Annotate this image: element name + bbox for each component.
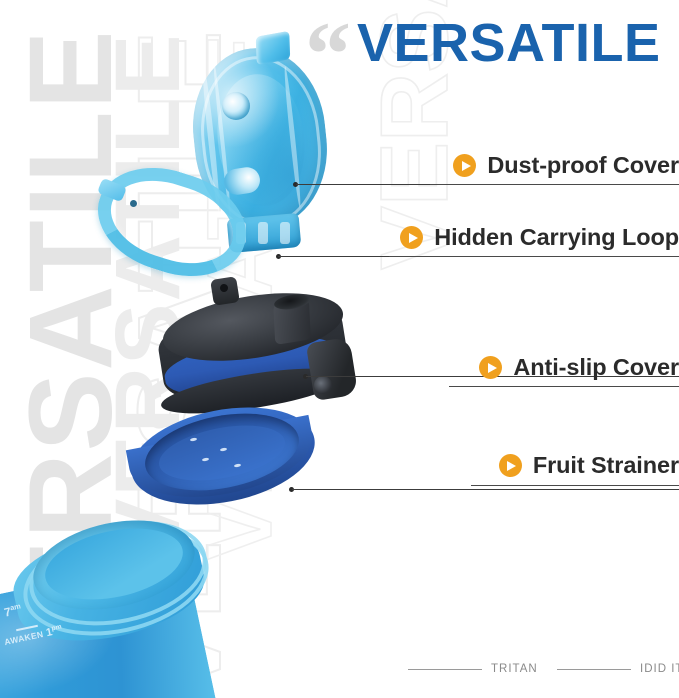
carrying-loop-strap bbox=[84, 151, 259, 293]
footer-item-idid-it: IDID IT bbox=[557, 663, 679, 675]
feature-divider bbox=[471, 485, 679, 486]
footer-rule bbox=[557, 669, 631, 670]
play-circle-icon[interactable] bbox=[479, 356, 502, 379]
footer-label: IDID IT bbox=[640, 663, 679, 675]
footer-label: TRITAN bbox=[491, 663, 538, 675]
feature-divider bbox=[430, 184, 679, 185]
play-circle-icon[interactable] bbox=[400, 226, 423, 249]
play-circle-icon[interactable] bbox=[499, 454, 522, 477]
feature-label: Anti-slip Cover bbox=[513, 354, 679, 381]
feature-row-anti-slip-cover[interactable]: Anti-slip Cover bbox=[479, 354, 679, 381]
feature-row-dust-proof-cover[interactable]: Dust-proof Cover bbox=[453, 152, 679, 179]
footer-item-tritan: TRITAN bbox=[408, 663, 538, 675]
feature-row-fruit-strainer[interactable]: Fruit Strainer bbox=[499, 452, 679, 479]
product-infographic: VERSATILE VERSATILE VERSATILE VERSATILE … bbox=[0, 0, 679, 698]
bottle-body-art: 7am AWAKEN 1pm bbox=[0, 505, 240, 698]
carrying-loop-hole bbox=[130, 200, 137, 207]
feature-row-hidden-carrying-loop[interactable]: Hidden Carrying Loop bbox=[400, 224, 679, 251]
feature-divider bbox=[389, 256, 679, 257]
feature-label: Hidden Carrying Loop bbox=[434, 224, 679, 251]
feature-divider bbox=[449, 386, 679, 387]
feature-label: Dust-proof Cover bbox=[487, 152, 679, 179]
footer-rule bbox=[408, 669, 482, 670]
feature-label: Fruit Strainer bbox=[533, 452, 679, 479]
leader-line-fruit-strainer bbox=[292, 489, 679, 490]
cap-lock-housing bbox=[306, 337, 359, 401]
play-circle-icon[interactable] bbox=[453, 154, 476, 177]
